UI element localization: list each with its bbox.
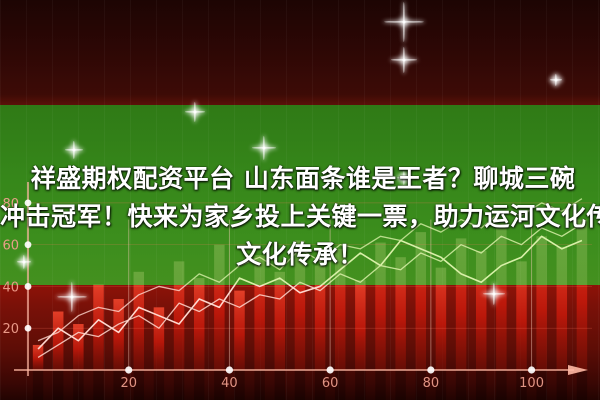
- svg-text:100: 100: [519, 376, 544, 391]
- svg-text:80: 80: [423, 376, 440, 391]
- chart-screenshot: 20406080 20406080100 祥盛期权配资平台 山东面条谁是王者？聊…: [0, 0, 600, 400]
- svg-text:20: 20: [2, 322, 19, 337]
- stock-chart: 20406080 20406080100: [0, 180, 600, 400]
- svg-text:60: 60: [322, 376, 339, 391]
- svg-text:40: 40: [2, 280, 19, 295]
- y-axis-ticks: 20406080: [2, 197, 31, 337]
- svg-text:60: 60: [2, 239, 19, 254]
- background-band-top: [0, 0, 600, 105]
- chart-svg: 20406080 20406080100: [0, 180, 600, 400]
- svg-text:80: 80: [2, 197, 19, 212]
- grid-lines: [28, 203, 592, 328]
- svg-text:20: 20: [120, 376, 137, 391]
- svg-text:40: 40: [221, 376, 238, 391]
